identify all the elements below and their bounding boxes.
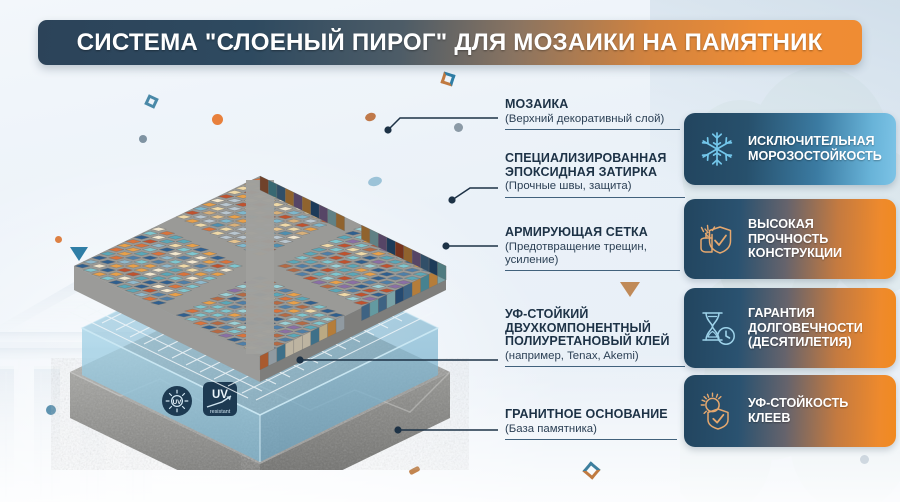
benefit-card-warranty[interactable]: ГАРАНТИЯ ДОЛГОВЕЧНОСТИ (ДЕСЯТИЛЕТИЯ): [684, 288, 896, 368]
callout-mosaic: МОЗАИКА (Верхний декоративный слой): [505, 98, 680, 130]
fist-shield-icon: [695, 217, 739, 261]
callout-title: СПЕЦИАЛИЗИРОВАННАЯ ЭПОКСИДНАЯ ЗАТИРКА: [505, 152, 685, 179]
benefit-card-frost[interactable]: ИСКЛЮЧИТЕЛЬНАЯ МОРОЗОСТОЙКОСТЬ: [684, 113, 896, 185]
callout-subtitle: (Прочные швы, защита): [505, 180, 685, 193]
uv-resistant-badge: UV resistant: [203, 382, 237, 416]
callout-underline: [505, 439, 677, 440]
callout-subtitle: (Предотвращение трещин, усиление): [505, 241, 680, 268]
callout-granite: ГРАНИТНОЕ ОСНОВАНИЕ (База памятника): [505, 408, 677, 440]
callout-title: МОЗАИКА: [505, 98, 680, 112]
callout-title: УФ-СТОЙКИЙ ДВУХКОМПОНЕНТНЫЙ ПОЛИУРЕТАНОВ…: [505, 308, 685, 349]
layer-stack-diagram: UV UV resistant: [10, 90, 510, 470]
callout-adhesive: УФ-СТОЙКИЙ ДВУХКОМПОНЕНТНЫЙ ПОЛИУРЕТАНОВ…: [505, 308, 685, 367]
benefit-label: ВЫСОКАЯ ПРОЧНОСТЬ КОНСТРУКЦИИ: [748, 217, 842, 261]
hourglass-clock-icon: [695, 306, 739, 350]
callout-subtitle: (Верхний декоративный слой): [505, 113, 680, 126]
svg-text:UV: UV: [173, 399, 183, 406]
callout-subtitle: (База памятника): [505, 423, 677, 436]
confetti-dot: [860, 455, 869, 464]
callout-underline: [505, 270, 680, 271]
svg-text:resistant: resistant: [210, 409, 231, 415]
benefit-label: ГАРАНТИЯ ДОЛГОВЕЧНОСТИ (ДЕСЯТИЛЕТИЯ): [748, 306, 863, 350]
snowflake-icon: [695, 127, 739, 171]
confetti-square: [440, 71, 455, 86]
callout-underline: [505, 366, 685, 367]
sun-shield-icon: [695, 389, 739, 433]
callout-underline: [505, 129, 680, 130]
confetti-triangle: [620, 282, 640, 297]
benefit-label: УФ-СТОЙКОСТЬ КЛЕЕВ: [748, 396, 848, 425]
benefit-label: ИСКЛЮЧИТЕЛЬНАЯ МОРОЗОСТОЙКОСТЬ: [748, 134, 882, 163]
page-title-bar: СИСТЕМА "СЛОЕНЫЙ ПИРОГ" ДЛЯ МОЗАИКИ НА П…: [38, 20, 862, 65]
callout-title: ГРАНИТНОЕ ОСНОВАНИЕ: [505, 408, 677, 422]
benefit-card-uv[interactable]: УФ-СТОЙКОСТЬ КЛЕЕВ: [684, 375, 896, 447]
uv-sun-badge: UV: [162, 386, 192, 416]
callout-underline: [505, 197, 685, 198]
callout-title: АРМИРУЮЩАЯ СЕТКА: [505, 226, 680, 240]
page-title: СИСТЕМА "СЛОЕНЫЙ ПИРОГ" ДЛЯ МОЗАИКИ НА П…: [77, 29, 823, 57]
callout-mesh: АРМИРУЮЩАЯ СЕТКА (Предотвращение трещин,…: [505, 226, 680, 271]
callout-grout: СПЕЦИАЛИЗИРОВАННАЯ ЭПОКСИДНАЯ ЗАТИРКА (П…: [505, 152, 685, 198]
callout-subtitle: (например, Tenax, Akemi): [505, 350, 685, 363]
benefit-card-strength[interactable]: ВЫСОКАЯ ПРОЧНОСТЬ КОНСТРУКЦИИ: [684, 199, 896, 279]
